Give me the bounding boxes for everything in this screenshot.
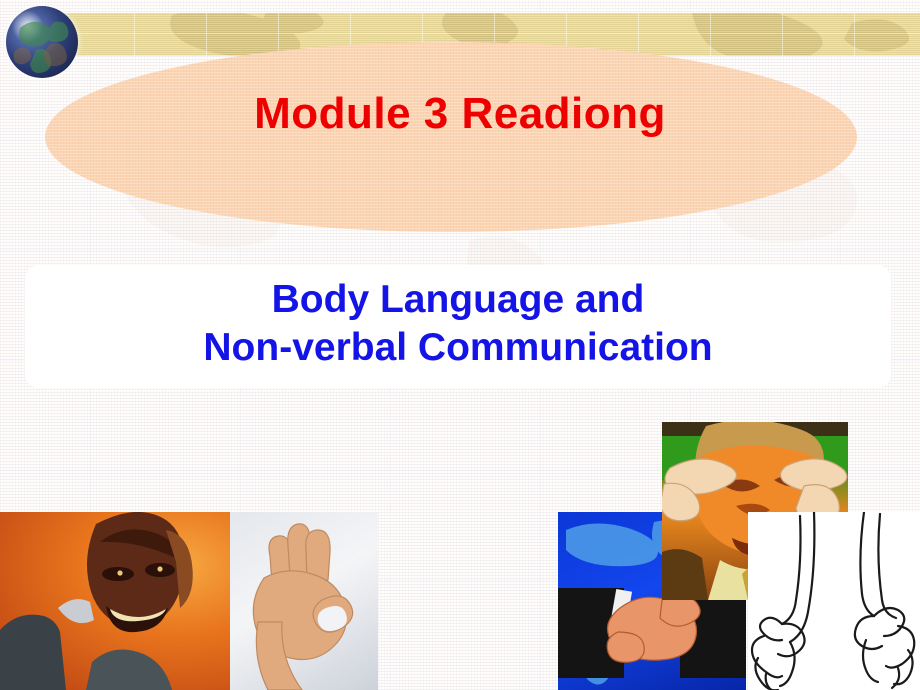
line-art-hands-drawing [748,512,920,690]
presentation-slide: Module 3 Readiong Body Language and Non-… [0,0,920,690]
ok-hand-gesture-photo [230,512,378,690]
ok-hand-icon [230,512,378,690]
globe-icon [6,6,78,78]
slide-subtitle: Body Language and Non-verbal Communicati… [25,276,891,371]
slide-title: Module 3 Readiong [0,92,920,136]
smiling-man-photo [0,512,230,690]
gesturing-hands-icon [748,512,920,690]
smiling-face-icon [0,512,230,690]
